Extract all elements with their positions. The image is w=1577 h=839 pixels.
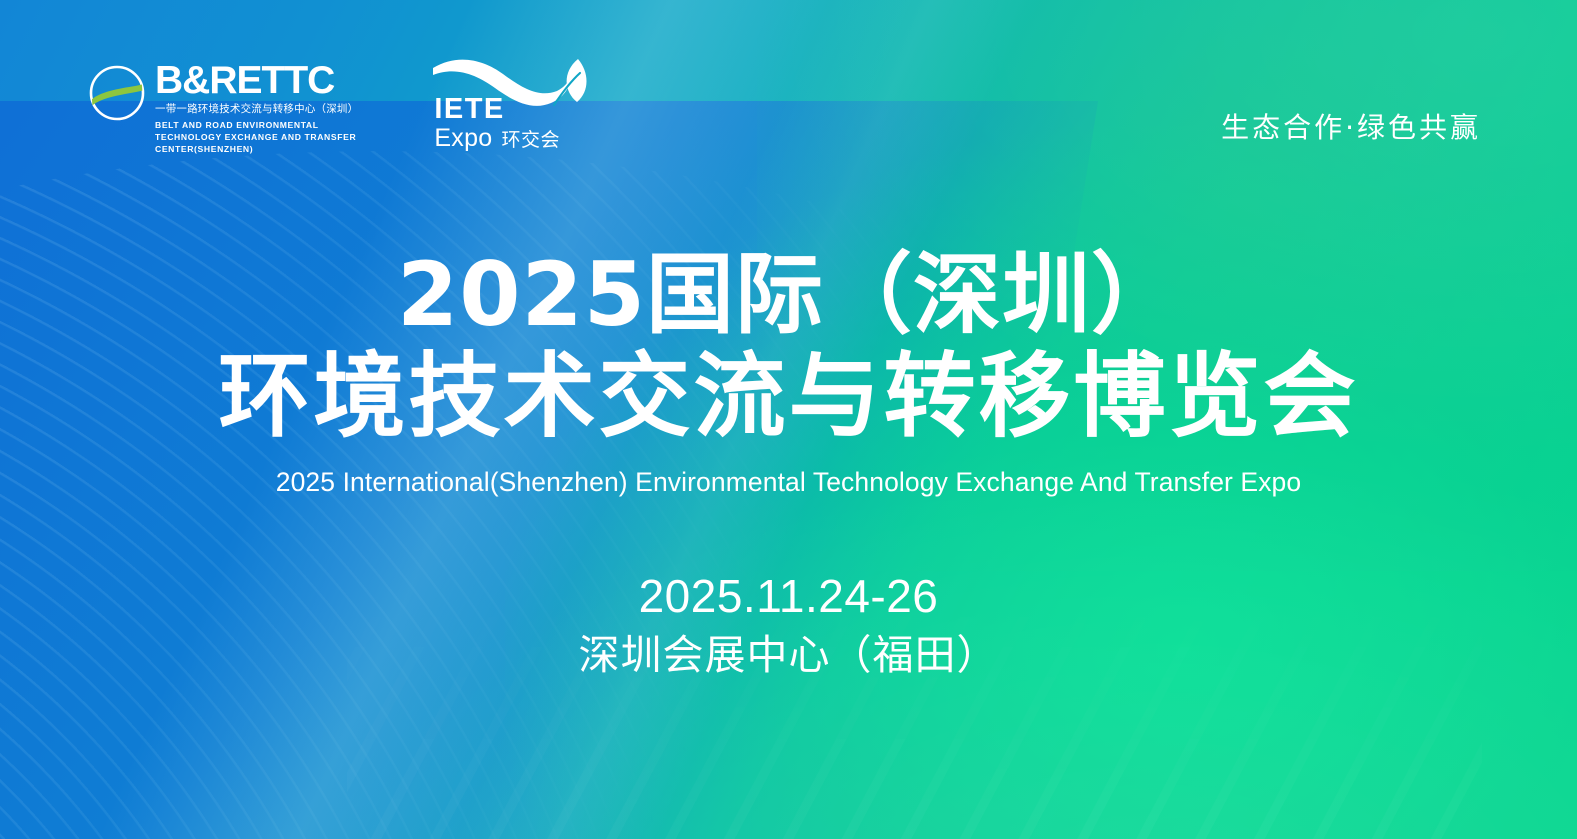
iete-expo-label: Expo (434, 125, 492, 152)
brettc-english-name: BELT AND ROAD ENVIRONMENTAL TECHNOLOGY E… (155, 119, 358, 156)
event-meta: 2025.11.24-26 深圳会展中心（福田） (0, 568, 1577, 682)
page-title-line-1: 2025国际（深圳） (0, 248, 1577, 341)
brettc-chinese-name: 一带一路环境技术交流与转移中心（深圳） (155, 102, 358, 116)
event-date: 2025.11.24-26 (0, 568, 1577, 625)
brettc-english-line-1: BELT AND ROAD ENVIRONMENTAL (155, 119, 358, 131)
page-subtitle-english: 2025 International(Shenzhen) Environment… (0, 467, 1577, 499)
event-banner: B&RETTC 一带一路环境技术交流与转移中心（深圳） BELT AND ROA… (0, 0, 1577, 839)
iete-chinese-label: 环交会 (502, 125, 561, 152)
brettc-logo: B&RETTC 一带一路环境技术交流与转移中心（深圳） BELT AND ROA… (88, 55, 358, 155)
event-venue: 深圳会展中心（福田） (0, 629, 1577, 682)
brettc-english-line-3: CENTER(SHENZHEN) (155, 143, 358, 155)
iete-expo-logo: IETE Expo 环交会 (432, 55, 592, 155)
page-title-line-2: 环境技术交流与转移博览会 (0, 347, 1577, 446)
iete-text-block: IETE Expo 环交会 (434, 95, 560, 152)
banner-header: B&RETTC 一带一路环境技术交流与转移中心（深圳） BELT AND ROA… (0, 0, 1577, 210)
logo-group: B&RETTC 一带一路环境技术交流与转移中心（深圳） BELT AND ROA… (88, 55, 592, 155)
iete-wordmark: IETE (434, 95, 560, 124)
banner-main: 2025国际（深圳） 环境技术交流与转移博览会 2025 Internation… (0, 248, 1577, 683)
banner-slogan: 生态合作·绿色共赢 (1221, 106, 1481, 146)
brettc-text-block: B&RETTC 一带一路环境技术交流与转移中心（深圳） BELT AND ROA… (155, 61, 358, 155)
circle-globe-icon (88, 64, 146, 122)
brettc-english-line-2: TECHNOLOGY EXCHANGE AND TRANSFER (155, 131, 358, 143)
iete-subline: Expo 环交会 (434, 125, 560, 152)
brettc-wordmark: B&RETTC (155, 62, 358, 99)
